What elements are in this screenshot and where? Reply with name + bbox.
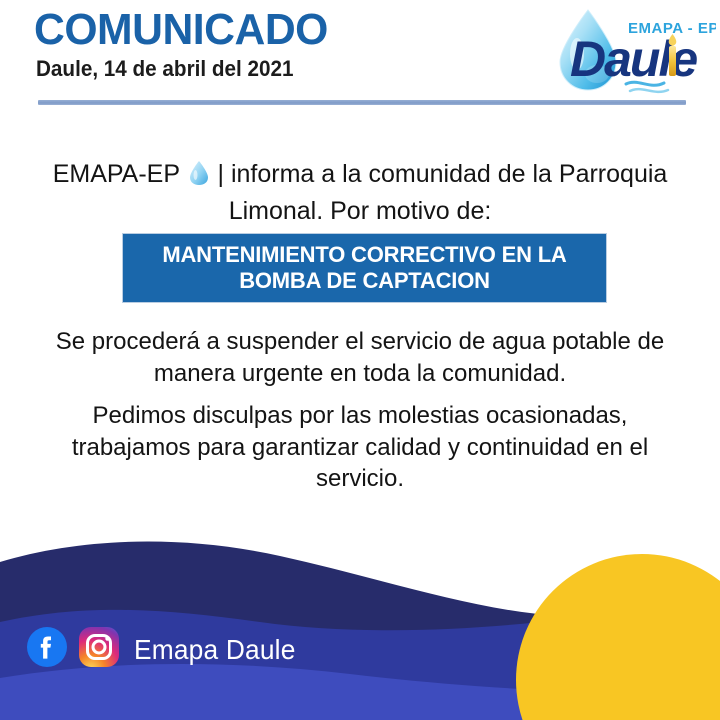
- yellow-circle: [516, 554, 720, 720]
- poster-header: COMUNICADO Daule, 14 de abril del 2021: [0, 0, 720, 110]
- facebook-icon[interactable]: [26, 626, 68, 673]
- water-drop-icon: [189, 160, 209, 195]
- intro-text-before: EMAPA-EP: [53, 160, 180, 188]
- comunicado-poster: COMUNICADO Daule, 14 de abril del 2021: [0, 0, 720, 720]
- highlight-banner: MANTENIMIENTO CORRECTIVO EN LA BOMBA DE …: [122, 233, 607, 303]
- intro-text: EMAPA-EP | informa a la comunidad de la …: [46, 158, 674, 227]
- social-handle: Emapa Daule: [134, 634, 296, 666]
- intro-text-after: | informa a la comunidad de la Parroquia…: [218, 160, 668, 225]
- header-divider: [38, 100, 686, 105]
- paragraph-service-suspension: Se procederá a suspender el servicio de …: [42, 326, 678, 389]
- title-block: COMUNICADO Daule, 14 de abril del 2021: [34, 8, 337, 82]
- torch-shape: [669, 34, 677, 76]
- paragraph-apology: Pedimos disculpas por las molestias ocas…: [52, 400, 668, 495]
- footer-wave-graphic: [0, 510, 720, 720]
- instagram-icon[interactable]: [78, 626, 120, 673]
- logo-wordmark: Daule: [570, 31, 697, 87]
- publication-date: Daule, 14 de abril del 2021: [36, 56, 319, 82]
- social-row: Emapa Daule: [26, 626, 306, 673]
- emapa-daule-logo: EMAPA - EP Daule: [552, 6, 716, 96]
- logo-wave-lines: [626, 82, 668, 92]
- page-title: COMUNICADO: [34, 8, 328, 52]
- banner-text: MANTENIMIENTO CORRECTIVO EN LA BOMBA DE …: [123, 242, 606, 294]
